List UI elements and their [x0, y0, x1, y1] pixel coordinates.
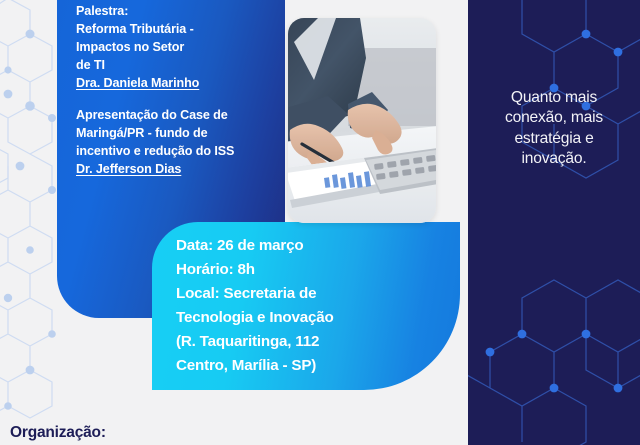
event-poster: Palestra: Reforma Tributária - Impactos … [0, 0, 640, 445]
case-line-2: Maringá/PR - fundo de [76, 124, 292, 142]
event-info-text: Data: 26 de março Horário: 8h Local: Sec… [176, 234, 456, 378]
speaker-name-1: Dra. Daniela Marinho [76, 74, 292, 92]
left-network-pattern [0, 0, 60, 445]
case-line-3: incentivo e redução do ISS [76, 142, 292, 160]
slogan-line-3: estratégia e [472, 129, 636, 149]
organizacao-label: Organização: [10, 424, 106, 442]
event-venue-line-1: Local: Secretaria de [176, 282, 456, 306]
talk-line-2: Reforma Tributária - [76, 20, 292, 38]
slogan-panel [468, 0, 640, 445]
event-address-line-2: Centro, Marília - SP) [176, 354, 456, 378]
talk-line-1: Palestra: [76, 2, 292, 20]
event-venue-line-2: Tecnologia e Inovação [176, 306, 456, 330]
slogan-text: Quanto mais conexão, mais estratégia e i… [472, 88, 636, 169]
talk-line-4: de TI [76, 56, 292, 74]
case-line-1: Apresentação do Case de [76, 106, 292, 124]
photo-card [288, 18, 436, 223]
text-spacer [76, 92, 292, 106]
talk-line-3: Impactos no Setor [76, 38, 292, 56]
event-time: Horário: 8h [176, 258, 456, 282]
slogan-line-4: inovação. [472, 149, 636, 169]
speaker-name-2: Dr. Jefferson Dias [76, 160, 292, 178]
event-date: Data: 26 de março [176, 234, 456, 258]
talk-details-text: Palestra: Reforma Tributária - Impactos … [76, 2, 292, 178]
slogan-line-2: conexão, mais [472, 108, 636, 128]
event-address-line-1: (R. Taquaritinga, 112 [176, 330, 456, 354]
slogan-line-1: Quanto mais [472, 88, 636, 108]
navy-network-pattern [468, 0, 640, 445]
